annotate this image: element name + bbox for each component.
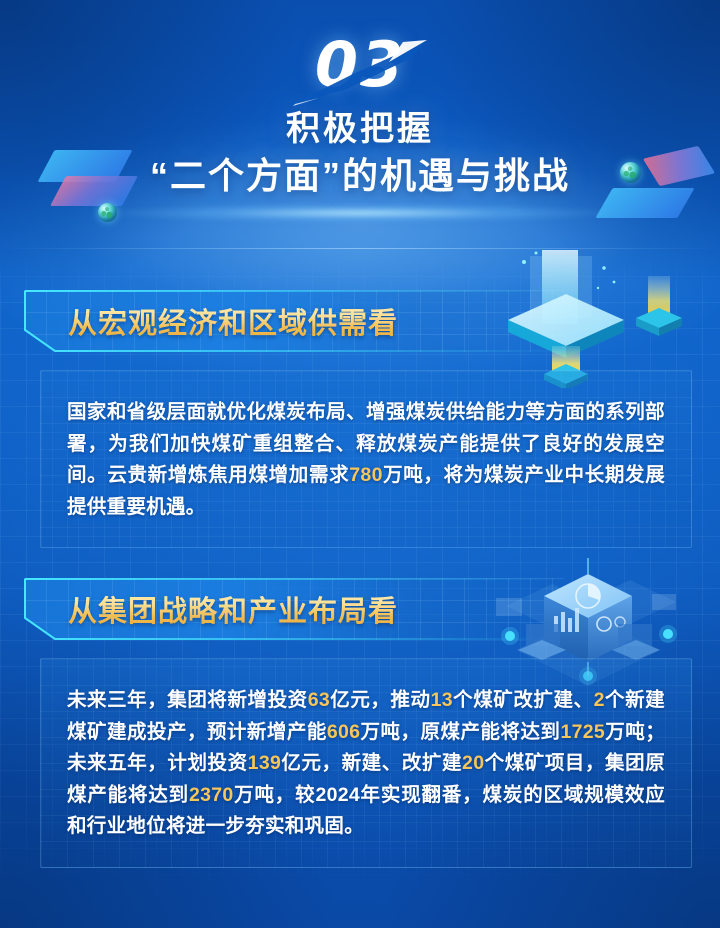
highlighted-figure: 780: [349, 464, 382, 486]
highlighted-figure: 606: [327, 721, 360, 743]
section-header-macro: 从宏观经济和区域供需看: [24, 290, 564, 352]
section-macro: 从宏观经济和区域供需看: [0, 290, 720, 548]
body-text-run: 未来三年，集团将新增投资: [67, 689, 308, 711]
highlighted-figure: 2370: [189, 784, 234, 806]
section-body-strategy: 未来三年，集团将新增投资63亿元，推动13个煤矿改扩建、2个新建煤矿建成投产，预…: [40, 658, 692, 868]
body-text-run: 万吨，原煤产能将达到: [360, 721, 560, 743]
title-line-1: 积极把握: [0, 108, 720, 151]
highlighted-figure: 20: [462, 752, 484, 774]
body-text-run: 亿元，推动: [330, 689, 431, 711]
section-body-macro: 国家和省级层面就优化煤炭布局、增强煤炭供给能力等方面的系列部署，为我们加快煤矿重…: [40, 370, 692, 548]
highlighted-figure: 139: [248, 752, 281, 774]
section-number: 03: [0, 34, 720, 96]
highlighted-figure: 2: [594, 689, 605, 711]
section-body-text-strategy: 未来三年，集团将新增投资63亿元，推动13个煤矿改扩建、2个新建煤矿建成投产，预…: [67, 685, 665, 843]
highlighted-figure: 13: [431, 689, 453, 711]
highlighted-figure: 1725: [560, 721, 605, 743]
infographic-canvas: 03 积极把握 “二个方面”的机遇与挑战: [0, 0, 720, 928]
main-title-block: 积极把握 “二个方面”的机遇与挑战: [0, 108, 720, 199]
title-line-2: “二个方面”的机遇与挑战: [0, 153, 720, 200]
section-title-macro: 从宏观经济和区域供需看: [68, 300, 398, 342]
body-text-run: 个煤矿改扩建、: [453, 689, 594, 711]
title-underglow: [110, 204, 610, 222]
body-text-run: 亿元，新建、改扩建: [281, 752, 462, 774]
highlighted-figure: 63: [308, 689, 330, 711]
section-body-text-macro: 国家和省级层面就优化煤炭布局、增强煤炭供给能力等方面的系列部署，为我们加快煤矿重…: [67, 397, 665, 523]
horizon-line: [0, 248, 720, 249]
section-header-strategy: 从集团战略和产业布局看: [24, 578, 564, 640]
section-strategy: 从集团战略和产业布局看: [0, 578, 720, 868]
section-title-strategy: 从集团战略和产业布局看: [68, 588, 398, 630]
